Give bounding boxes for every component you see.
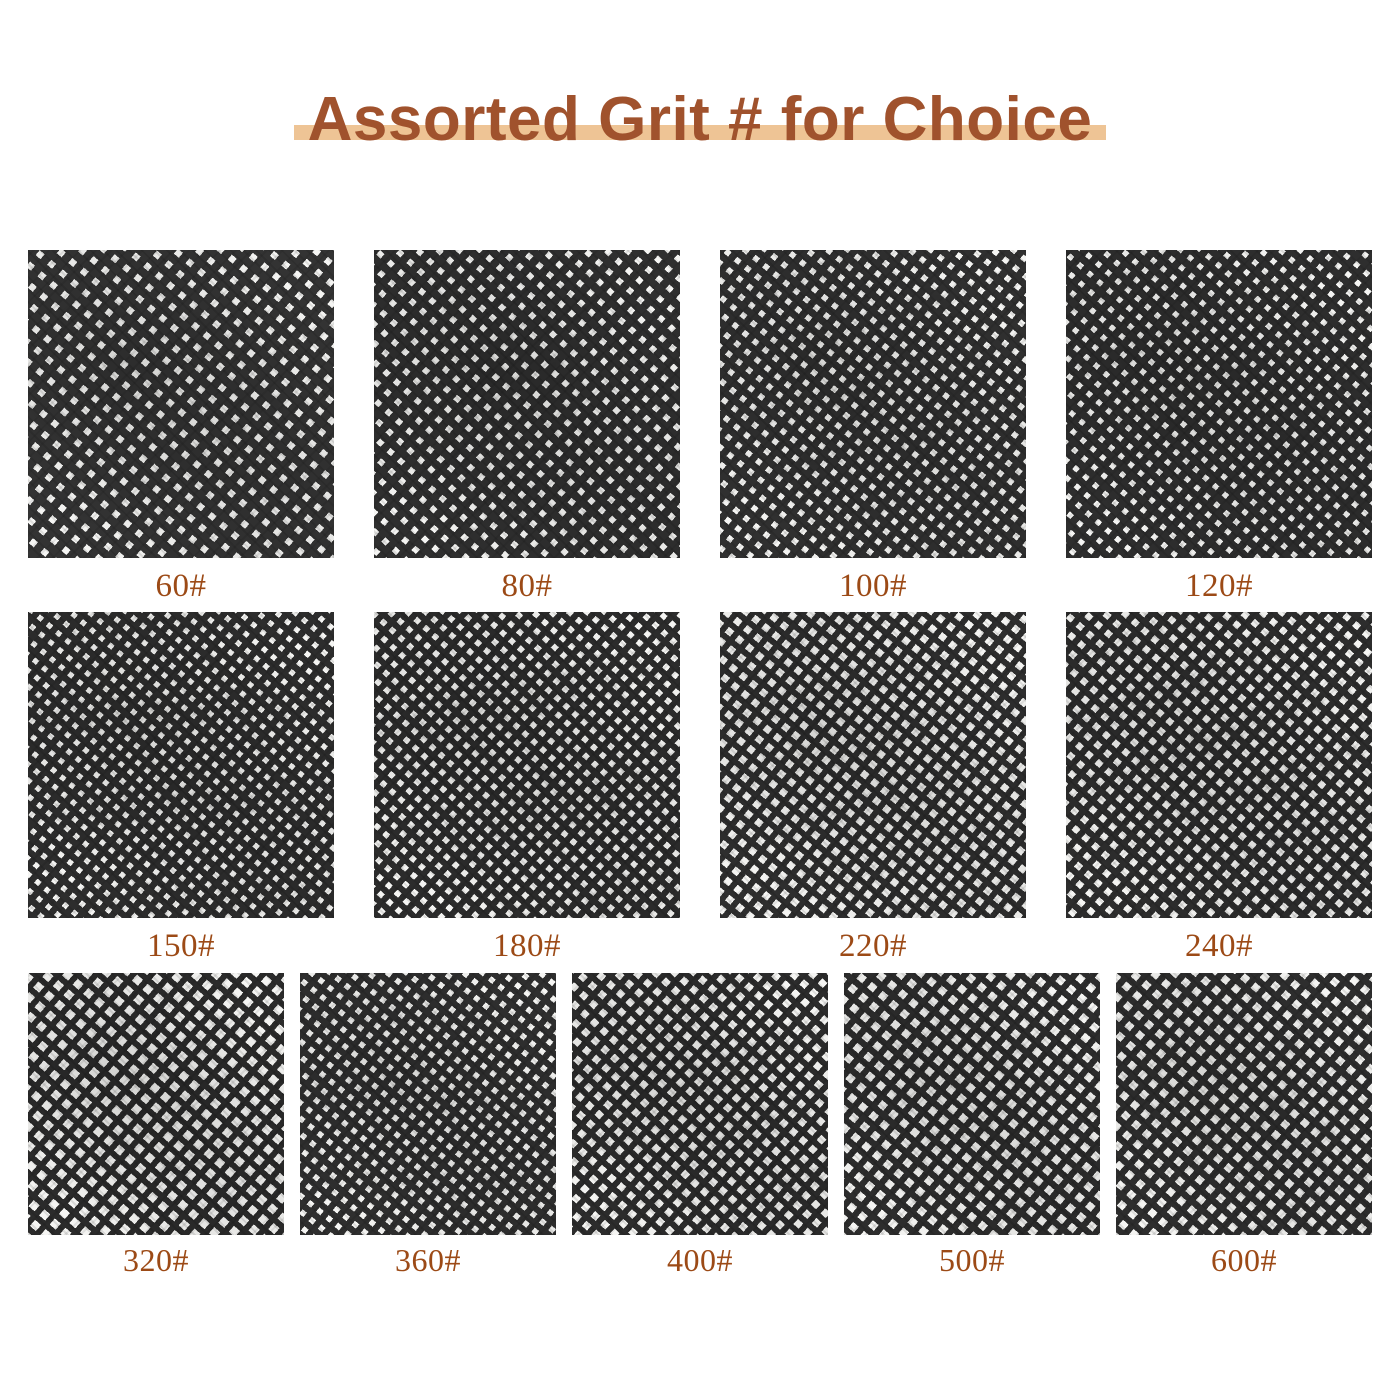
page-title-text: Assorted Grit # for Choice bbox=[308, 89, 1093, 151]
grit-swatch-cell: 100# bbox=[720, 250, 1026, 604]
mesh-texture bbox=[720, 612, 1026, 918]
mesh-sample-image bbox=[720, 250, 1026, 558]
grit-label: 360# bbox=[395, 1243, 461, 1278]
grit-swatch-cell: 80# bbox=[374, 250, 680, 604]
grit-label: 500# bbox=[939, 1243, 1005, 1278]
grit-label: 120# bbox=[1185, 568, 1253, 604]
grit-label: 600# bbox=[1211, 1243, 1277, 1278]
mesh-texture bbox=[300, 973, 556, 1235]
mesh-texture bbox=[1116, 973, 1372, 1235]
mesh-texture bbox=[1066, 250, 1372, 558]
grit-label: 100# bbox=[839, 568, 907, 604]
grit-swatch-grid: 60#80#100#120# 150#180#220#240# 320#360#… bbox=[0, 250, 1400, 1278]
mesh-sample-image bbox=[28, 250, 334, 558]
grit-swatch-cell: 240# bbox=[1066, 612, 1372, 964]
mesh-texture bbox=[1066, 612, 1372, 918]
grit-label: 240# bbox=[1185, 928, 1253, 964]
mesh-sample-image bbox=[1116, 973, 1372, 1235]
mesh-sample-image bbox=[844, 973, 1100, 1235]
mesh-texture bbox=[720, 250, 1026, 558]
mesh-sample-image bbox=[28, 973, 284, 1235]
grit-swatch-cell: 320# bbox=[28, 973, 284, 1278]
grit-label: 220# bbox=[839, 928, 907, 964]
mesh-texture bbox=[28, 973, 284, 1235]
mesh-sample-image bbox=[720, 612, 1026, 918]
grit-swatch-cell: 120# bbox=[1066, 250, 1372, 604]
grit-label: 180# bbox=[493, 928, 561, 964]
mesh-sample-image bbox=[374, 250, 680, 558]
page-title: Assorted Grit # for Choice bbox=[0, 72, 1400, 168]
mesh-sample-image bbox=[1066, 612, 1372, 918]
grit-label: 320# bbox=[123, 1243, 189, 1278]
grit-swatch-cell: 60# bbox=[28, 250, 334, 604]
grit-swatch-cell: 180# bbox=[374, 612, 680, 964]
mesh-texture bbox=[844, 973, 1100, 1235]
grit-label: 150# bbox=[147, 928, 215, 964]
grit-swatch-cell: 400# bbox=[572, 973, 828, 1278]
mesh-sample-image bbox=[1066, 250, 1372, 558]
grit-swatch-cell: 360# bbox=[300, 973, 556, 1278]
mesh-texture bbox=[572, 973, 828, 1235]
grit-label: 60# bbox=[156, 568, 207, 604]
mesh-sample-image bbox=[300, 973, 556, 1235]
mesh-texture bbox=[374, 250, 680, 558]
swatch-row-1: 60#80#100#120# bbox=[0, 250, 1400, 604]
swatch-row-2: 150#180#220#240# bbox=[0, 612, 1400, 964]
grit-chart-page: { "header": { "title": "Assorted Grit # … bbox=[0, 0, 1400, 1400]
mesh-texture bbox=[28, 250, 334, 558]
grit-label: 80# bbox=[502, 568, 553, 604]
grit-swatch-cell: 600# bbox=[1116, 973, 1372, 1278]
grit-label: 400# bbox=[667, 1243, 733, 1278]
mesh-texture bbox=[28, 612, 334, 918]
grit-swatch-cell: 220# bbox=[720, 612, 1026, 964]
mesh-sample-image bbox=[572, 973, 828, 1235]
grit-swatch-cell: 150# bbox=[28, 612, 334, 964]
mesh-sample-image bbox=[28, 612, 334, 918]
grit-swatch-cell: 500# bbox=[844, 973, 1100, 1278]
mesh-texture bbox=[374, 612, 680, 918]
mesh-sample-image bbox=[374, 612, 680, 918]
swatch-row-3: 320#360#400#500#600# bbox=[0, 973, 1400, 1278]
